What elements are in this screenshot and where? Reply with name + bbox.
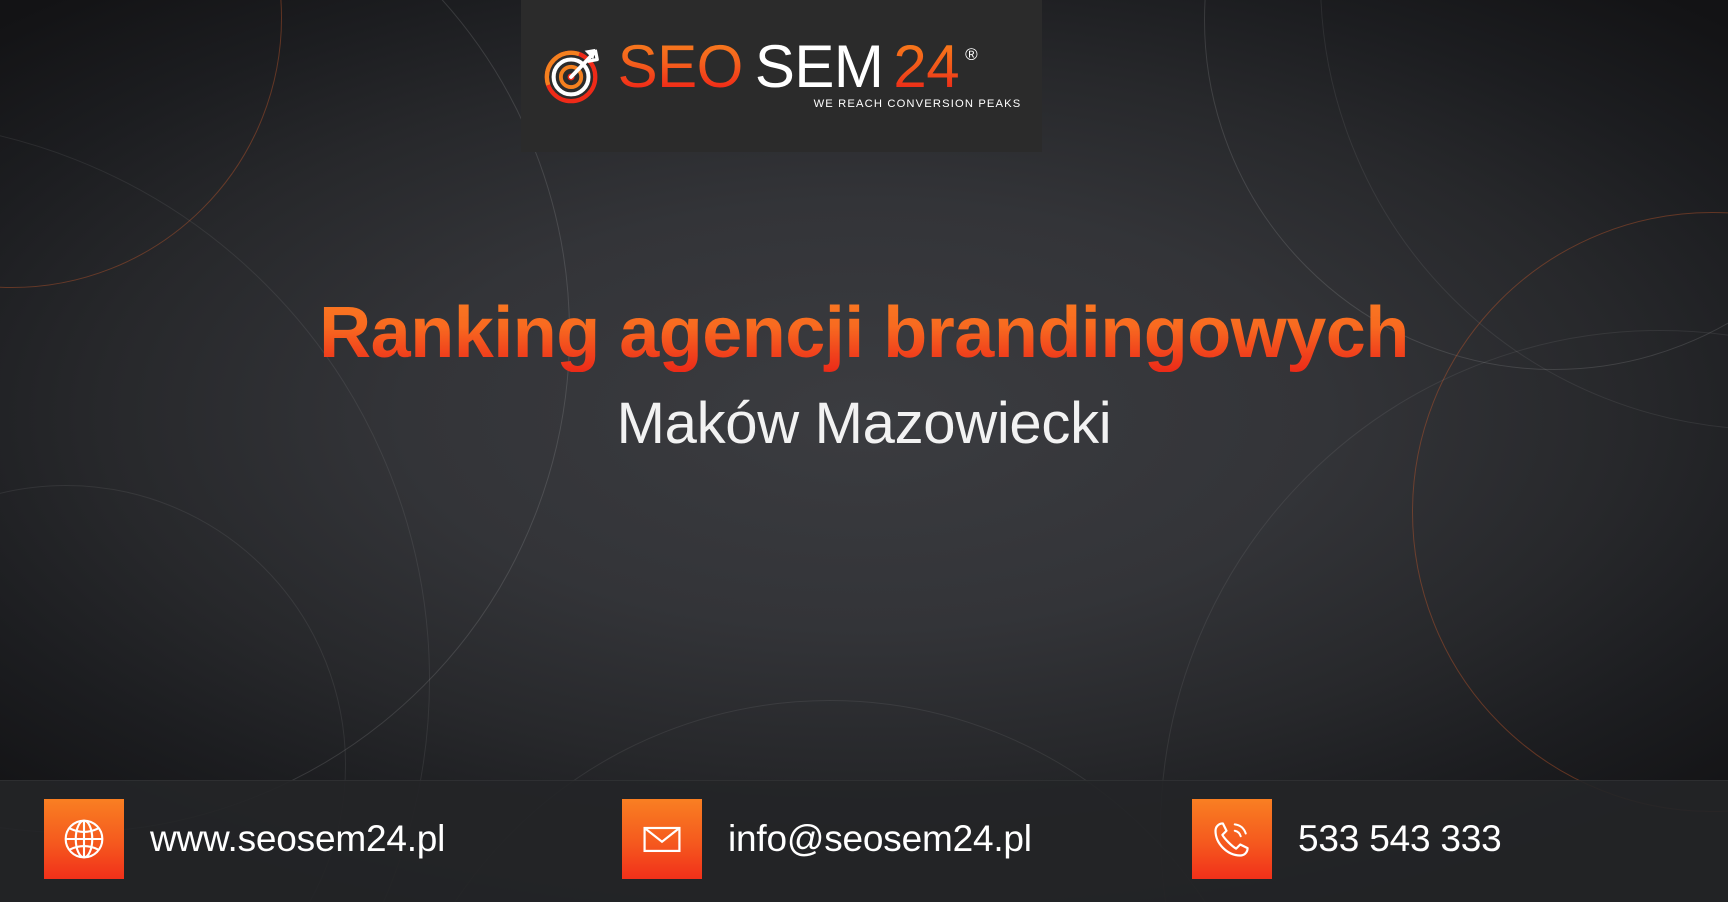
- logo-text-row: SEO SEM 24 ®: [618, 38, 1022, 96]
- contact-email[interactable]: info@seosem24.pl: [622, 799, 1032, 879]
- contact-footer: www.seosem24.pl info@seosem24.pl 533 543…: [0, 780, 1728, 902]
- page-subtitle: Maków Mazowiecki: [0, 392, 1728, 456]
- logo-seo-text: SEO: [618, 38, 743, 96]
- page-title: Ranking agencji brandingowych: [0, 296, 1728, 372]
- logo-number-text: 24: [893, 38, 959, 96]
- globe-icon: [44, 799, 124, 879]
- website-label: www.seosem24.pl: [150, 818, 445, 860]
- logo-sem-text: SEM: [755, 38, 884, 96]
- target-arrow-icon: [542, 44, 604, 106]
- logo-plate: SEO SEM 24 ® WE REACH CONVERSION PEAKS: [521, 0, 1042, 152]
- email-label: info@seosem24.pl: [728, 818, 1032, 860]
- logo-wordmark: SEO SEM 24 ® WE REACH CONVERSION PEAKS: [618, 38, 1022, 110]
- phone-icon: [1192, 799, 1272, 879]
- contact-website[interactable]: www.seosem24.pl: [44, 799, 445, 879]
- logo-lockup: SEO SEM 24 ® WE REACH CONVERSION PEAKS: [542, 38, 1022, 110]
- logo-tagline: WE REACH CONVERSION PEAKS: [814, 98, 1022, 110]
- envelope-icon: [622, 799, 702, 879]
- registered-mark-icon: ®: [965, 46, 978, 63]
- decorative-ring-left-warm: [0, 0, 282, 288]
- hero-block: Ranking agencji brandingowych Maków Mazo…: [0, 296, 1728, 455]
- contact-phone[interactable]: 533 543 333: [1192, 799, 1502, 879]
- slide-canvas: SEO SEM 24 ® WE REACH CONVERSION PEAKS R…: [0, 0, 1728, 902]
- phone-label: 533 543 333: [1298, 818, 1502, 860]
